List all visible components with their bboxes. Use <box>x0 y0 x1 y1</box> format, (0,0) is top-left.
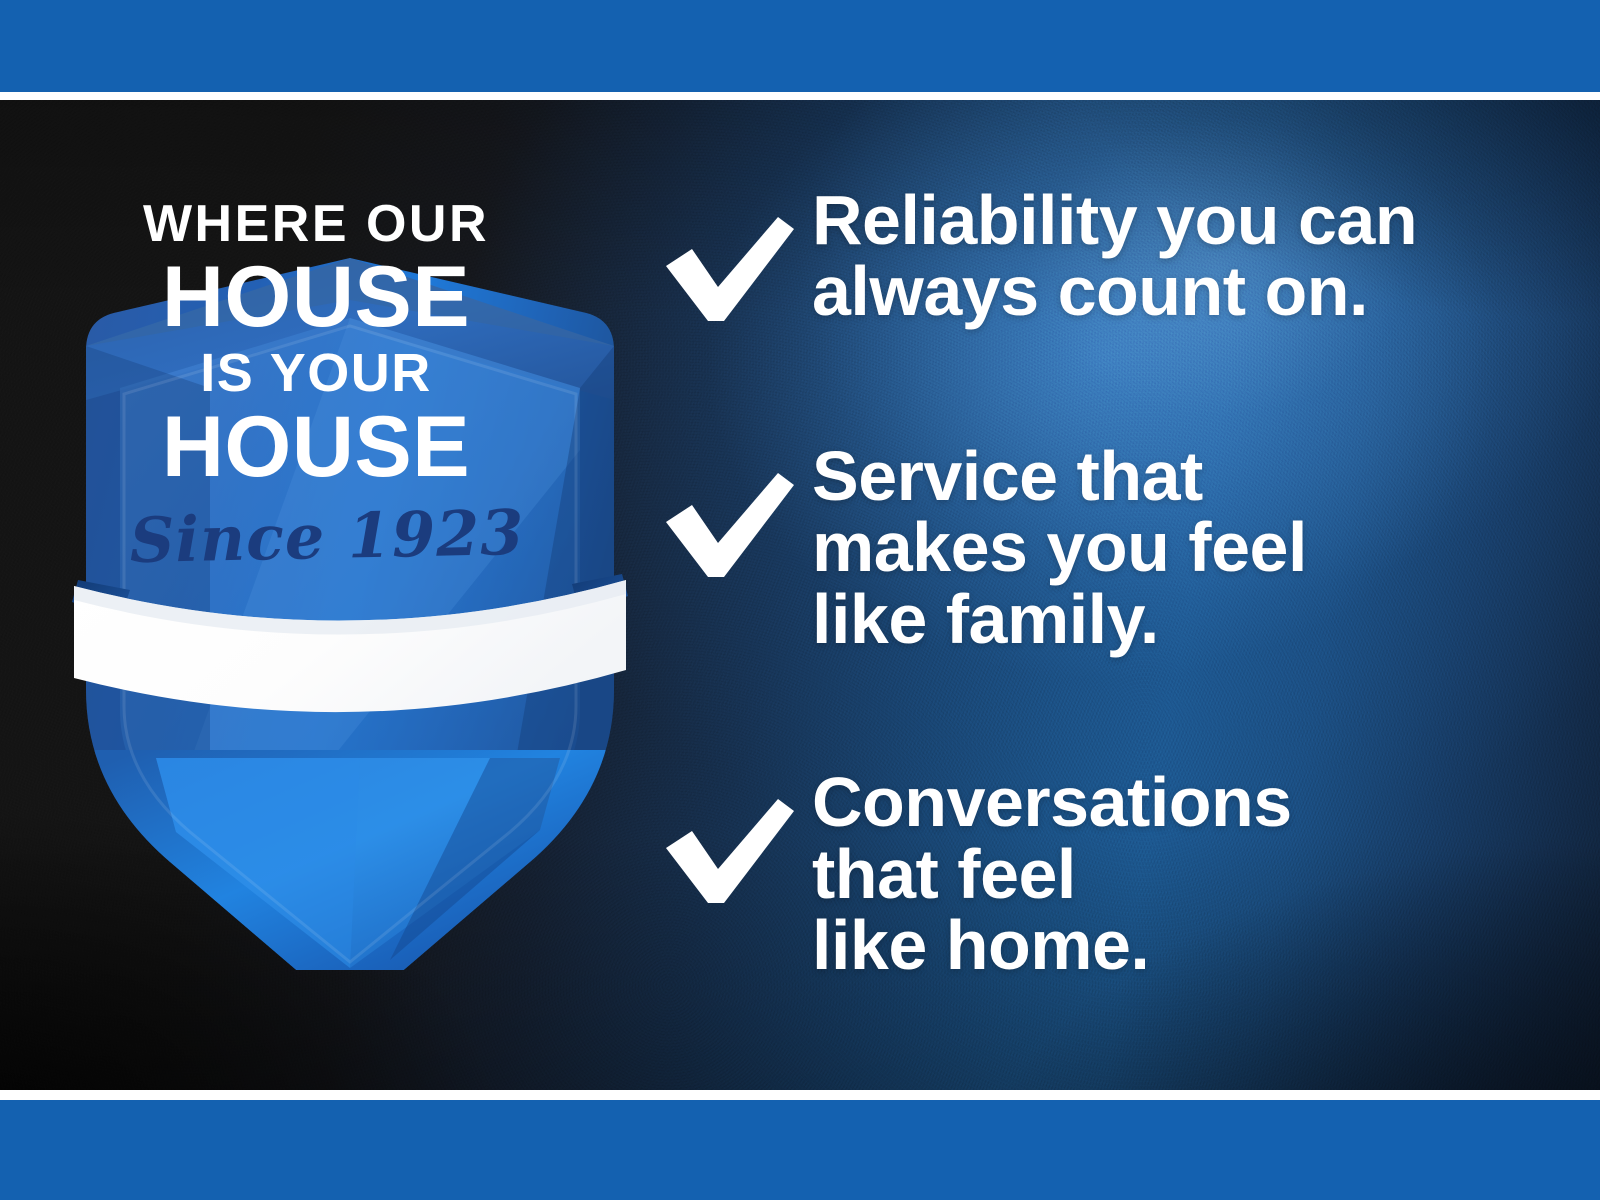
checkmark-icon <box>660 185 812 329</box>
shield-line-2: HOUSE <box>92 256 540 339</box>
benefits-list: Reliability you can always count on. Ser… <box>660 185 1540 981</box>
benefit-line: makes you feel <box>812 512 1307 583</box>
benefit-line: like home. <box>812 910 1292 981</box>
shield-line-4: HOUSE <box>92 406 540 489</box>
benefit-line: Service that <box>812 441 1307 512</box>
top-brand-bar <box>0 0 1600 92</box>
since-banner-text: Since 1923 <box>91 495 562 578</box>
bottom-brand-bar <box>0 1100 1600 1200</box>
benefit-item: Service that makes you feel like family. <box>660 441 1540 655</box>
benefit-text: Reliability you can always count on. <box>812 185 1417 328</box>
benefit-item: Conversations that feel like home. <box>660 767 1540 981</box>
benefit-item: Reliability you can always count on. <box>660 185 1540 329</box>
shield-line-3: IS YOUR <box>92 348 540 400</box>
checkmark-icon <box>660 767 812 911</box>
benefit-text: Conversations that feel like home. <box>812 767 1292 981</box>
benefit-text: Service that makes you feel like family. <box>812 441 1307 655</box>
benefit-line: that feel <box>812 839 1292 910</box>
shield-line-1: WHERE OUR <box>92 200 540 250</box>
checkmark-icon <box>660 441 812 585</box>
shield-wordmark: WHERE OUR HOUSE IS YOUR HOUSE <box>92 200 540 489</box>
benefit-line: Conversations <box>812 767 1292 838</box>
benefit-line: like family. <box>812 584 1307 655</box>
benefit-line: always count on. <box>812 256 1417 327</box>
promo-poster: WHERE OUR HOUSE IS YOUR HOUSE Since 1923… <box>0 0 1600 1200</box>
benefit-line: Reliability you can <box>812 185 1417 256</box>
